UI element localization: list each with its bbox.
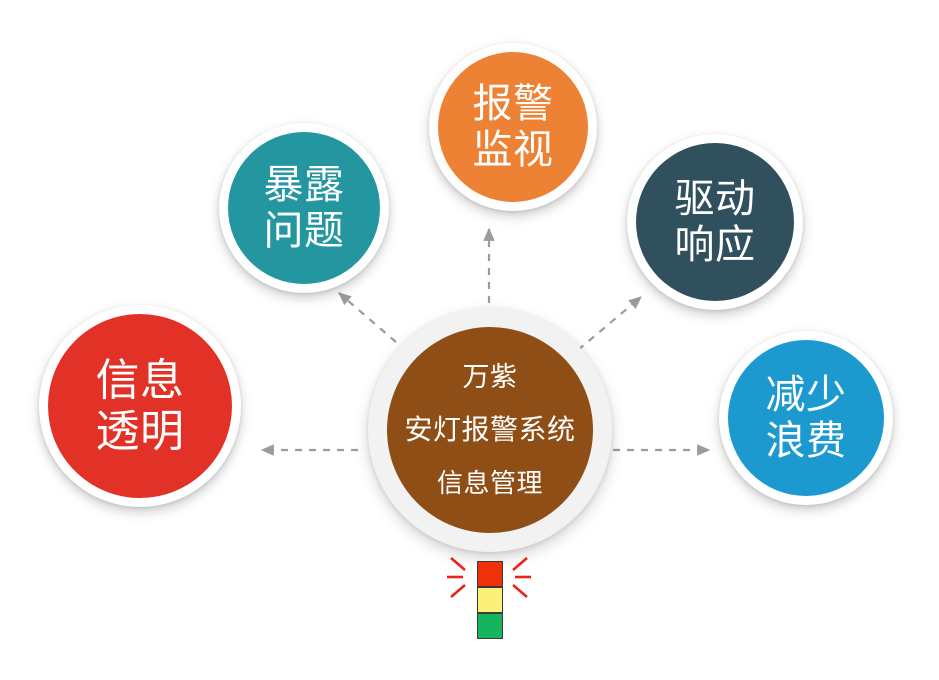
node-expose-issue-disc: 暴露 问题 bbox=[228, 132, 380, 284]
node-info-transparency-disc: 信息 透明 bbox=[48, 314, 232, 498]
center-hub-line3: 信息管理 bbox=[437, 468, 543, 498]
node-drive-response-line1: 驱动 bbox=[675, 176, 756, 222]
diagram-canvas: 报警 监视 暴露 问题 驱动 响应 信息 透明 减少 浪费 万紫 安 bbox=[0, 0, 939, 680]
node-center-hub[interactable]: 万紫 安灯报警系统 信息管理 bbox=[368, 308, 612, 552]
node-info-transparency[interactable]: 信息 透明 bbox=[39, 305, 241, 507]
node-expose-issue-line2: 问题 bbox=[264, 208, 345, 254]
connector-hub-to-drive-response bbox=[578, 297, 641, 350]
andon-lamp-yellow bbox=[477, 587, 503, 613]
andon-lamp-red bbox=[477, 561, 503, 587]
node-reduce-waste-line1: 减少 bbox=[766, 372, 847, 418]
node-expose-issue-line1: 暴露 bbox=[264, 162, 345, 208]
node-alarm-monitor-line2: 监视 bbox=[473, 127, 554, 173]
andon-lamp-green bbox=[477, 613, 503, 639]
node-info-transparency-line1: 信息 bbox=[96, 355, 185, 406]
connector-hub-to-expose-issue bbox=[339, 293, 396, 342]
node-reduce-waste-disc: 减少 浪费 bbox=[728, 340, 884, 496]
node-center-hub-disc: 万紫 安灯报警系统 信息管理 bbox=[387, 327, 593, 533]
center-hub-line2: 安灯报警系统 bbox=[404, 414, 575, 446]
node-drive-response-disc: 驱动 响应 bbox=[636, 143, 794, 301]
node-reduce-waste-line2: 浪费 bbox=[766, 418, 847, 464]
center-hub-line1: 万紫 bbox=[463, 362, 518, 393]
node-drive-response[interactable]: 驱动 响应 bbox=[627, 134, 803, 310]
node-alarm-monitor-disc: 报警 监视 bbox=[438, 52, 588, 202]
node-drive-response-line2: 响应 bbox=[675, 222, 756, 268]
node-reduce-waste[interactable]: 减少 浪费 bbox=[719, 331, 893, 505]
node-expose-issue[interactable]: 暴露 问题 bbox=[219, 123, 389, 293]
node-alarm-monitor[interactable]: 报警 监视 bbox=[429, 43, 597, 211]
node-info-transparency-line2: 透明 bbox=[96, 406, 185, 457]
node-alarm-monitor-line1: 报警 bbox=[473, 81, 554, 127]
andon-light-tower bbox=[468, 556, 510, 654]
